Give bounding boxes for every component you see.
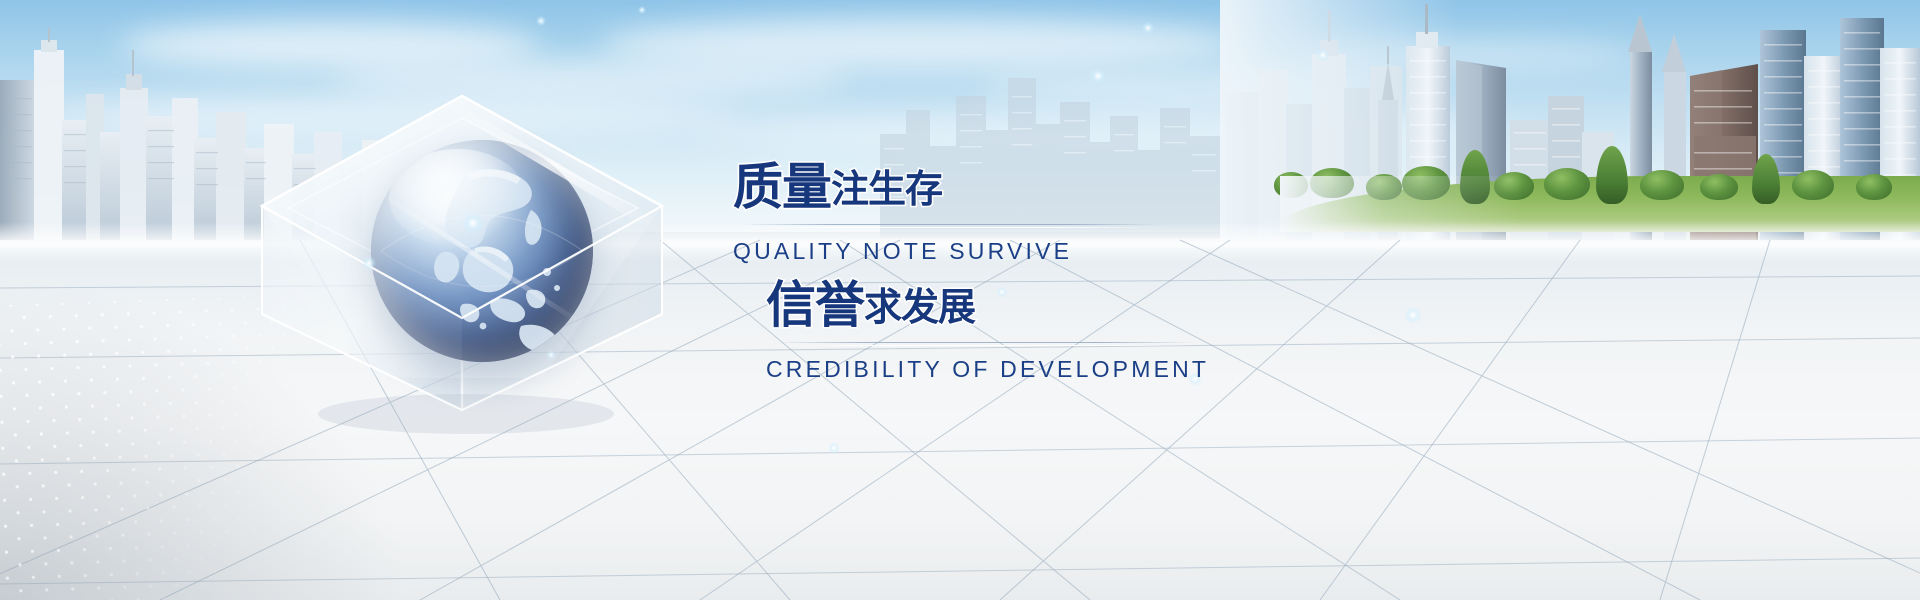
slogan-quality-cn-primary: 质量 — [733, 158, 831, 216]
divider-line-highlight — [774, 345, 1194, 346]
banner-root: 质量注生存 QUALITY NOTE SURVIVE 信誉求发展 CREDIBI… — [0, 0, 1920, 600]
slogan-quality-chinese: 质量注生存 — [733, 162, 1181, 212]
slogan-quality-english: QUALITY NOTE SURVIVE — [733, 238, 1181, 265]
slogan-credibility-chinese: 信誉求发展 — [766, 280, 1214, 330]
slogan-quality: 质量注生存 QUALITY NOTE SURVIVE — [733, 162, 1181, 265]
divider-line — [741, 224, 1161, 225]
slogan-quality-divider — [741, 224, 1181, 230]
earth-globe — [371, 140, 593, 362]
divider-line-highlight — [741, 227, 1161, 228]
slogan-credibility-cn-primary: 信誉 — [766, 276, 864, 334]
slogan-credibility-english: CREDIBILITY OF DEVELOPMENT — [766, 356, 1214, 383]
slogan-credibility: 信誉求发展 CREDIBILITY OF DEVELOPMENT — [766, 280, 1214, 383]
slogan-quality-cn-secondary: 注生存 — [831, 167, 942, 211]
divider-line — [774, 342, 1194, 343]
slogan-credibility-cn-secondary: 求发展 — [864, 285, 975, 329]
slogan-credibility-divider — [774, 342, 1214, 348]
